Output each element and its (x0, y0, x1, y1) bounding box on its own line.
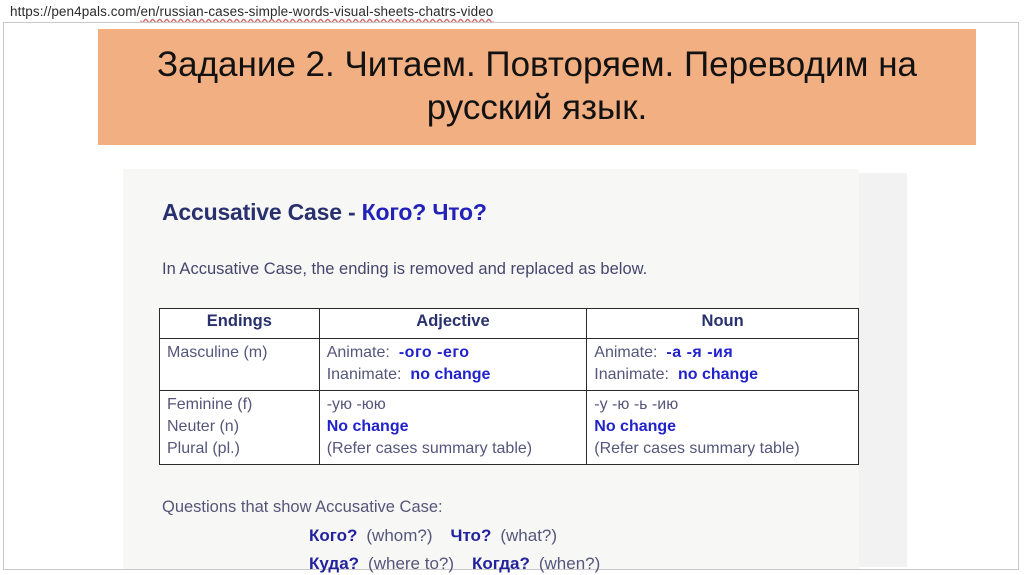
question-translation-what: (what?) (500, 526, 557, 545)
worksheet-image: Accusative Case - Кого? Что? In Accusati… (123, 169, 859, 569)
question-translation-whom: (whom?) (366, 526, 432, 545)
worksheet-content: Accusative Case - Кого? Что? In Accusati… (133, 177, 859, 569)
url-path: en/russian-cases-simple-words-visual-she… (140, 4, 493, 19)
noun-plural-value: (Refer cases summary table) (594, 438, 851, 460)
inanimate-value: no change (410, 366, 490, 383)
cell-category-masculine: Masculine (m) (160, 339, 320, 391)
adjective-animate-line: Animate:-ого -его (327, 342, 580, 364)
noun-neuter-value: No change (594, 416, 851, 438)
table-row: Masculine (m) Animate:-ого -его Inanimat… (160, 339, 859, 391)
worksheet-heading-ru: Кого? Что? (362, 199, 487, 225)
table-header-row: Endings Adjective Noun (160, 309, 859, 339)
worksheet-right-margin (859, 173, 907, 567)
question-word-kogo: Кого? (309, 526, 357, 545)
table-row: Feminine (f) Neuter (n) Plural (pl.) -ую… (160, 391, 859, 465)
worksheet-subtitle: In Accusative Case, the ending is remove… (162, 260, 647, 279)
category-label-plural: Plural (pl.) (167, 438, 312, 460)
cell-adjective-group: -ую -юю No change (Refer cases summary t… (319, 391, 587, 465)
noun-animate-line: Animate:-а -я -ия (594, 342, 851, 364)
worksheet-heading: Accusative Case - Кого? Что? (162, 199, 487, 226)
url-prefix: https://pen4pals.com/ (10, 4, 140, 19)
slide-title-banner: Задание 2. Читаем. Повторяем. Переводим … (98, 29, 976, 145)
category-label-neuter: Neuter (n) (167, 416, 312, 438)
inanimate-label: Inanimate: (594, 366, 669, 383)
category-label-feminine: Feminine (f) (167, 394, 312, 416)
endings-table: Endings Adjective Noun Masculine (m) Ani… (159, 308, 859, 465)
question-word-chto: Что? (451, 526, 492, 545)
column-header-adjective: Adjective (319, 309, 587, 339)
question-translation-whereto: (where to?) (368, 554, 454, 573)
cell-category-group: Feminine (f) Neuter (n) Plural (pl.) (160, 391, 320, 465)
cell-noun-masculine: Animate:-а -я -ия Inanimate:no change (587, 339, 859, 391)
slide-canvas: Задание 2. Читаем. Повторяем. Переводим … (3, 22, 1019, 570)
animate-value: -ого -его (399, 344, 470, 361)
noun-inanimate-line: Inanimate:no change (594, 364, 851, 386)
animate-label: Animate: (327, 344, 390, 361)
noun-feminine-value: -у -ю -ь -ию (594, 394, 851, 416)
worksheet-heading-en: Accusative Case - (162, 199, 362, 225)
inanimate-value: no change (678, 366, 758, 383)
cell-noun-group: -у -ю -ь -ию No change (Refer cases summ… (587, 391, 859, 465)
page-url-bar: https://pen4pals.com/en/russian-cases-si… (10, 4, 493, 19)
adjective-inanimate-line: Inanimate:no change (327, 364, 580, 386)
questions-row-2: Куда?(where to?)Когда?(when?) (309, 554, 600, 574)
adjective-neuter-value: No change (327, 416, 580, 438)
cell-adjective-masculine: Animate:-ого -его Inanimate:no change (319, 339, 587, 391)
adjective-plural-value: (Refer cases summary table) (327, 438, 580, 460)
adjective-feminine-value: -ую -юю (327, 394, 580, 416)
animate-value: -а -я -ия (666, 344, 733, 361)
column-header-endings: Endings (160, 309, 320, 339)
questions-title: Questions that show Accusative Case: (162, 498, 443, 517)
question-word-kogda: Когда? (472, 554, 530, 573)
questions-row-1: Кого?(whom?)Что?(what?) (309, 526, 557, 546)
question-word-kuda: Куда? (309, 554, 359, 573)
category-label: Masculine (m) (167, 342, 312, 364)
question-translation-when: (when?) (539, 554, 600, 573)
slide-title-text: Задание 2. Читаем. Повторяем. Переводим … (112, 44, 962, 129)
column-header-noun: Noun (587, 309, 859, 339)
animate-label: Animate: (594, 344, 657, 361)
inanimate-label: Inanimate: (327, 366, 402, 383)
